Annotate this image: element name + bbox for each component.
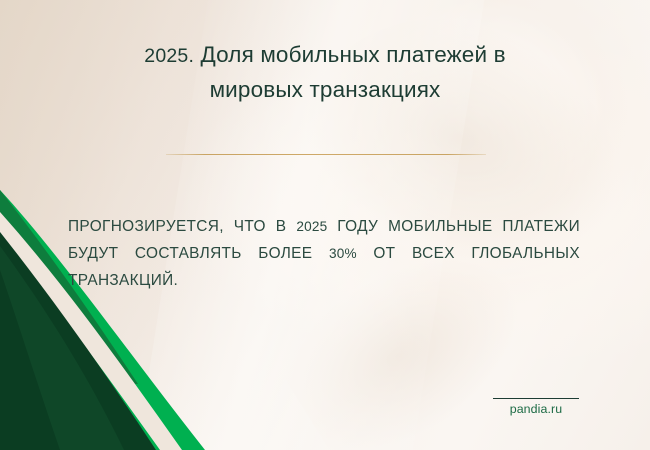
green-swoosh-decoration	[0, 150, 260, 450]
watermark-rule	[493, 398, 579, 399]
title-line-2: мировых транзакциях	[0, 73, 650, 106]
slide-title: 2025. Доля мобильных платежей в мировых …	[0, 38, 650, 106]
title-line-1-text: Доля мобильных платежей в	[194, 42, 506, 67]
title-year: 2025.	[144, 45, 194, 67]
body-text-percent: 30%	[329, 246, 357, 261]
title-line-1: 2025. Доля мобильных платежей в	[0, 38, 650, 73]
watermark: pandia.ru	[493, 398, 579, 416]
body-text-part-1: ПРОГНОЗИРУЕТСЯ, ЧТО В	[68, 218, 296, 235]
slide-canvas: 2025. Доля мобильных платежей в мировых …	[0, 0, 650, 450]
slide-body-text: ПРОГНОЗИРУЕТСЯ, ЧТО В 2025 ГОДУ МОБИЛЬНЫ…	[68, 213, 580, 294]
watermark-label: pandia.ru	[493, 402, 579, 416]
title-divider-rule	[166, 154, 486, 155]
body-text-year: 2025	[296, 219, 327, 234]
